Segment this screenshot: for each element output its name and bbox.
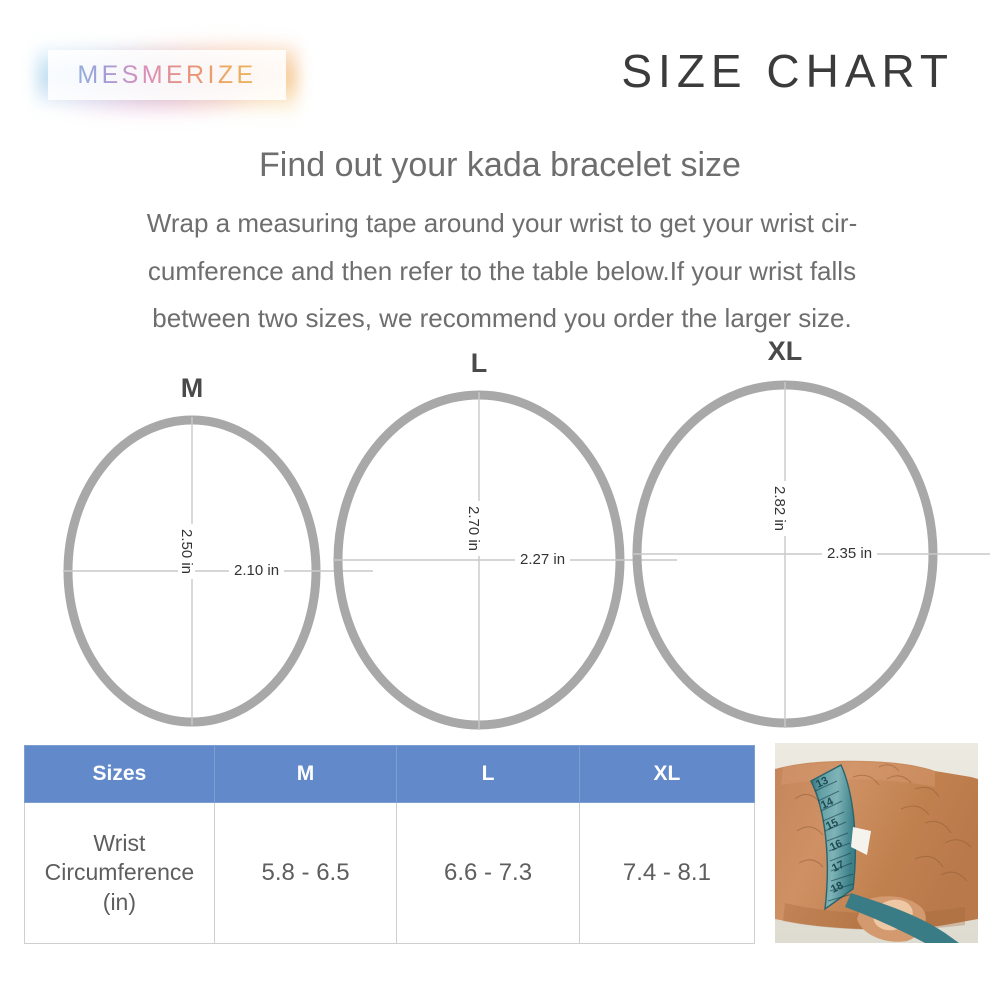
bracelet-size-diagram: M 2.50 in 2.10 in L 2.70 in 2.27 in — [0, 340, 1000, 740]
intro-paragraph: Wrap a measuring tape around your wrist … — [52, 200, 952, 343]
oval-group-xl: XL 2.82 in 2.35 in — [632, 380, 938, 728]
table-header-xl: XL — [579, 746, 754, 803]
oval-height-label-xl: 2.82 in — [771, 481, 788, 536]
wrist-photo-illustration: 13 14 15 16 17 18 — [775, 743, 978, 943]
row-label-line-2: Circumference — [45, 859, 195, 885]
brand-logo-text: MESMERIZE — [48, 50, 286, 100]
oval-label-l: L — [333, 348, 625, 379]
oval-group-m: M 2.50 in 2.10 in — [63, 415, 321, 727]
oval-width-label-m: 2.10 in — [229, 562, 284, 579]
headline: Find out your kada bracelet size — [0, 146, 1000, 185]
oval-group-l: L 2.70 in 2.27 in — [333, 390, 625, 730]
oval-crosshair-xl — [628, 370, 994, 738]
oval-height-label-l: 2.70 in — [465, 501, 482, 556]
brand-logo: MESMERIZE — [48, 46, 286, 106]
size-chart-page: MESMERIZE SIZE CHART Find out your kada … — [0, 0, 1000, 1000]
oval-label-m: M — [63, 373, 321, 404]
cell-wrist-xl: 7.4 - 8.1 — [579, 803, 754, 944]
size-table-head: Sizes M L XL — [25, 746, 755, 803]
size-table: Sizes M L XL Wrist Circumference (in) 5.… — [24, 745, 755, 944]
page-title: SIZE CHART — [621, 44, 954, 98]
table-header-l: L — [397, 746, 580, 803]
table-header-m: M — [214, 746, 397, 803]
table-header-sizes: Sizes — [25, 746, 215, 803]
wrist-measuring-photo: 13 14 15 16 17 18 — [775, 743, 978, 943]
cell-wrist-m: 5.8 - 6.5 — [214, 803, 397, 944]
oval-height-label-m: 2.50 in — [178, 524, 195, 579]
oval-label-xl: XL — [632, 336, 938, 367]
row-label-line-1: Wrist — [93, 830, 145, 856]
size-table-body: Wrist Circumference (in) 5.8 - 6.5 6.6 -… — [25, 803, 755, 944]
oval-width-label-l: 2.27 in — [515, 551, 570, 568]
intro-line-2: cumference and then refer to the table b… — [52, 248, 952, 296]
oval-width-label-xl: 2.35 in — [822, 545, 877, 562]
row-label-wrist-circumference: Wrist Circumference (in) — [25, 803, 215, 944]
table-row: Wrist Circumference (in) 5.8 - 6.5 6.6 -… — [25, 803, 755, 944]
row-label-line-3: (in) — [103, 889, 136, 915]
intro-line-1: Wrap a measuring tape around your wrist … — [52, 200, 952, 248]
cell-wrist-l: 6.6 - 7.3 — [397, 803, 580, 944]
table-header-row: Sizes M L XL — [25, 746, 755, 803]
